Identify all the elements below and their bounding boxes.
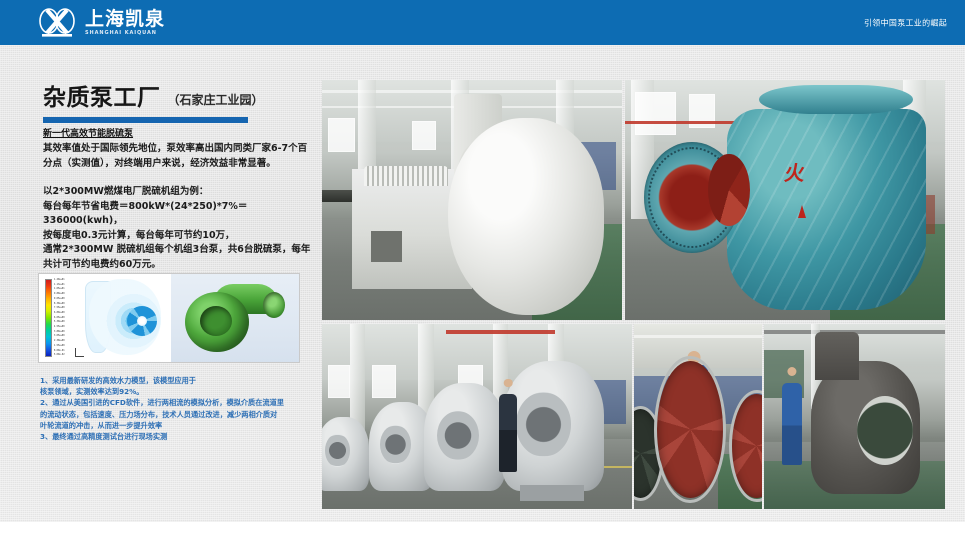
photo-teal-slurry-pump: 火 [625, 80, 945, 320]
note-line: 3、最终通过高精度测试台进行现场实测 [40, 431, 318, 442]
photo-white-pump-assembly [322, 80, 622, 320]
note-line: 1、采用最新研发的高效水力模型，该模型应用于 [40, 375, 318, 386]
title-main-text: 杂质泵工厂 [43, 86, 161, 110]
coupling-guard [364, 166, 448, 185]
red-pipe [446, 330, 555, 334]
example-line-5: 共计可节约电费约60万元。 [43, 258, 315, 273]
impeller-red-center [657, 361, 724, 498]
worker-person [782, 383, 802, 464]
page-header: 上海凯泉 SHANGHAI KAIQUAN 引领中国泵工业的崛起 [0, 0, 965, 45]
red-impeller-visible [708, 154, 750, 226]
window [372, 365, 397, 398]
worker-person [499, 394, 518, 472]
cfd-tick: 9.80e+00 [54, 293, 80, 296]
lead-heading: 新一代高效节能脱硫泵 [43, 127, 315, 141]
example-line-4: 通常2*300MW 脱硫机组每个机组3台泵，共6台脱硫泵，每年 [43, 243, 315, 258]
window [635, 92, 677, 135]
pump-casing-3 [424, 383, 505, 490]
window [328, 118, 355, 152]
slurry-pump-casing [727, 109, 925, 311]
brand-logo[interactable]: 上海凯泉 SHANGHAI KAIQUAN [36, 7, 165, 39]
cfd-tick: 1.05e+01 [54, 288, 80, 291]
casing-suction-eye [325, 434, 349, 467]
technical-notes: 1、采用最新研发的高效水力模型，该模型应用于 核泵领域，实测效率达到92%。 2… [40, 375, 318, 442]
cfd-tick: 4.55e+00 [54, 326, 80, 329]
casing-suction-eye [437, 411, 479, 460]
left-content-column: 杂质泵工厂 （石家庄工业园） 新一代高效节能脱硫泵 其效率值处于国际领先地位，泵… [0, 45, 320, 522]
impeller-rim [654, 356, 726, 504]
cfd-tick: 3.05e+00 [54, 335, 80, 338]
cfd-tick: 7.55e+00 [54, 307, 80, 310]
note-line: 的流动状态，包括速度、压力场分布，技术人员通过改进，减少两相介质对 [40, 409, 318, 420]
casing-suction-eye [516, 392, 571, 457]
cfd-tick: 5.30e+00 [54, 321, 80, 324]
note-line: 核泵领域，实测效率达到92%。 [40, 386, 318, 397]
pump-casing-4 [502, 361, 604, 491]
cfd-impeller-hub [137, 316, 147, 326]
logo-text-cn: 上海凯泉 [85, 9, 165, 29]
photo-red-impellers [634, 324, 762, 509]
cfd-tick: 9.05e+00 [54, 298, 80, 301]
cfd-colorbar-ticks: 1.20e+01 1.13e+01 1.05e+01 9.80e+00 9.05… [54, 279, 80, 357]
example-line-2: 每台每年节省电费＝800kW*(24*250)*7%＝336000(kwh)， [43, 200, 315, 229]
casting-machined-bore [857, 396, 913, 465]
title-sub-text: （石家庄工业园） [168, 91, 264, 108]
title-underline-bar [43, 117, 248, 123]
casing-ribs [727, 109, 925, 311]
body-copy: 新一代高效节能脱硫泵 其效率值处于国际领先地位，泵效率高出国内同类厂家6-7个百… [43, 127, 315, 272]
note-line: 叶轮流道的冲击，从而进一步提升效率 [40, 420, 318, 431]
example-line-3: 按每度电0.3元计算，每台每年可节约10万， [43, 229, 315, 244]
cfd-tick: 1.13e+01 [54, 284, 80, 287]
pump-casing-1 [322, 417, 369, 491]
intro-paragraph: 其效率值处于国际领先地位，泵效率高出国内同类厂家6-7个百分点（实测值），对终端… [43, 142, 315, 171]
bearing-cavity [371, 231, 402, 262]
volute-outlet-nozzle [263, 292, 285, 318]
page-title: 杂质泵工厂 （石家庄工业园） [43, 86, 264, 110]
cfd-colorbar [45, 279, 52, 357]
cfd-contour-image: 1.20e+01 1.13e+01 1.05e+01 9.80e+00 9.05… [39, 274, 169, 362]
cfd-image-pair: 1.20e+01 1.13e+01 1.05e+01 9.80e+00 9.05… [38, 273, 300, 363]
cfd-tick: 3.80e+00 [54, 331, 80, 334]
example-line-1: 以2*300MW燃煤电厂脱硫机组为例： [43, 185, 315, 200]
rotation-arrow-marking [798, 205, 806, 218]
window [412, 121, 436, 150]
slide-body: 杂质泵工厂 （石家庄工业园） 新一代高效节能脱硫泵 其效率值处于国际领先地位，泵… [0, 45, 965, 546]
photo-pump-casing-row [322, 324, 632, 509]
kaiquan-logo-mark [36, 7, 80, 39]
cfd-flow-field [83, 277, 167, 361]
note-line: 2、通过从美国引进的CFD软件，进行两相流的模拟分析，模拟介质在流道里 [40, 397, 318, 408]
impeller-red-right [731, 394, 762, 498]
cfd-tick: 6.05e+00 [54, 317, 80, 320]
cfd-tick: 8.30e+00 [54, 303, 80, 306]
slide-bottom-margin [0, 522, 965, 546]
casing-suction-eye [380, 425, 411, 464]
casing-top-flange [759, 85, 913, 114]
pump-volute-casing [448, 118, 604, 315]
casing-support-foot [520, 485, 583, 501]
volute-3d-model [183, 282, 287, 354]
worker-head [504, 379, 513, 388]
logo-text-en: SHANGHAI KAIQUAN [85, 30, 165, 37]
kaiquan-logo-on-pump: 火 [783, 157, 807, 186]
example-paragraph: 以2*300MW燃煤电厂脱硫机组为例： 每台每年节省电费＝800kW*(24*2… [43, 185, 315, 272]
photo-raw-casting [764, 324, 945, 509]
header-slogan: 引领中国泵工业的崛起 [864, 17, 947, 28]
cfd-tick: 1.20e+01 [54, 279, 80, 282]
raw-casing-casting [811, 361, 920, 494]
cfd-3d-model-image [171, 274, 299, 362]
casting-inlet-neck [815, 332, 858, 380]
roof-beam [634, 335, 762, 338]
cfd-tick: 2.30e+00 [54, 340, 80, 343]
window [328, 365, 350, 398]
cfd-axis-indicator [75, 348, 84, 357]
cfd-tick: 6.80e+00 [54, 312, 80, 315]
volute-suction-eye [200, 306, 232, 336]
